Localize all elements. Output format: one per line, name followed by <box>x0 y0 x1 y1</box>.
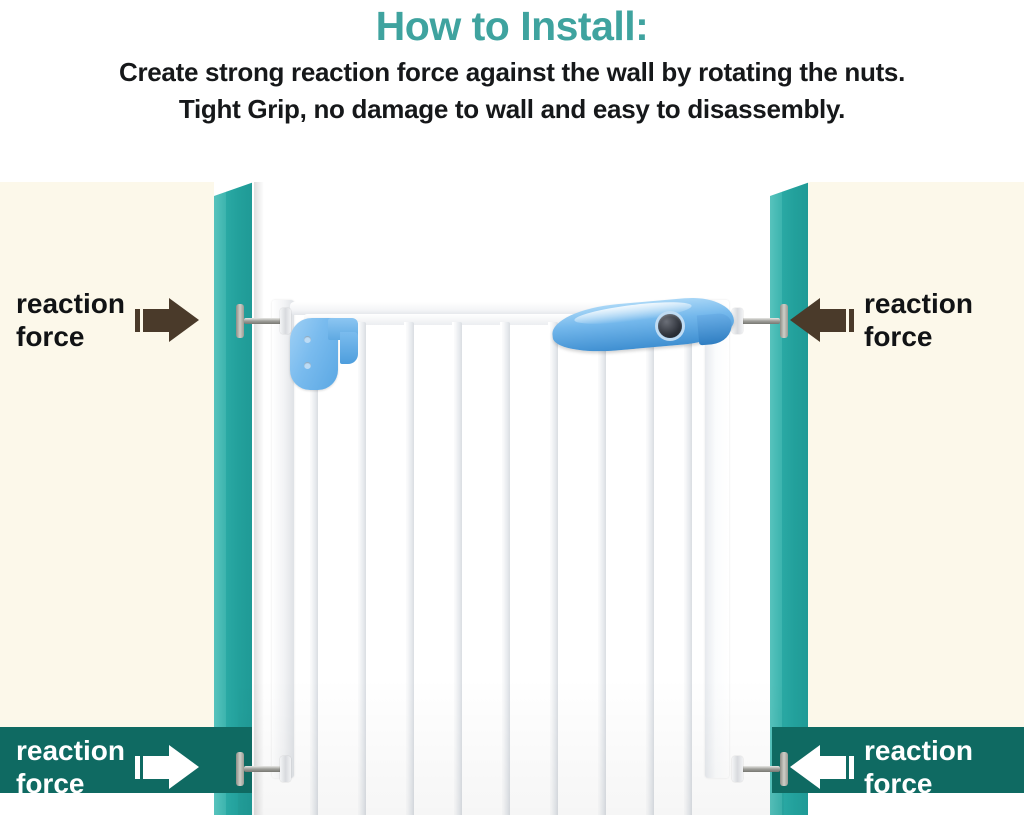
page-title: How to Install: <box>0 0 1024 49</box>
wall-post-left-cap <box>214 182 254 196</box>
reaction-force-bottom-left: reaction force <box>16 734 199 800</box>
wall-post-right-cap <box>770 182 810 196</box>
label-line-1: reaction <box>16 287 125 320</box>
wall-post-left-face <box>226 182 252 815</box>
mounting-bolt-bottom-left[interactable] <box>236 752 300 786</box>
bolt-rod <box>244 766 284 772</box>
bolt-nut[interactable] <box>732 756 743 782</box>
reaction-force-bottom-right: reaction force <box>790 734 973 800</box>
reaction-force-top-right-text: reaction force <box>864 287 973 353</box>
label-line-2: force <box>864 767 973 800</box>
wall-post-right-edge <box>770 182 782 815</box>
bolt-rod <box>244 318 284 324</box>
wall-post-left <box>214 182 254 815</box>
bolt-wall-pad <box>780 304 788 338</box>
gate-bar <box>548 322 558 815</box>
gate-bar <box>452 322 462 815</box>
wall-post-left-edge <box>214 182 226 815</box>
wall-post-right-face <box>782 182 808 815</box>
gate-bar <box>682 322 692 815</box>
blue-hinge[interactable] <box>290 318 358 390</box>
label-line-2: force <box>16 320 125 353</box>
hinge-rivet <box>304 362 311 369</box>
bolt-wall-pad <box>780 752 788 786</box>
top-right-arrow-icon <box>790 298 854 342</box>
header-block: How to Install: Create strong reaction f… <box>0 0 1024 182</box>
install-instruction-graphic: How to Install: Create strong reaction f… <box>0 0 1024 815</box>
gate-bar <box>308 322 318 815</box>
gate-frame-right-post <box>705 300 729 778</box>
subtitle-line-2: Tight Grip, no damage to wall and easy t… <box>0 89 1024 126</box>
reaction-force-top-right: reaction force <box>790 287 973 353</box>
bolt-wall-pad <box>236 304 244 338</box>
bolt-nut[interactable] <box>280 756 291 782</box>
safety-gate <box>268 300 748 780</box>
reaction-force-top-left: reaction force <box>16 287 199 353</box>
label-line-2: force <box>864 320 973 353</box>
label-line-1: reaction <box>864 287 973 320</box>
handle-release-button[interactable] <box>658 314 682 338</box>
bottom-right-arrow-icon <box>790 745 854 789</box>
gate-bar <box>596 322 606 815</box>
gate-bar <box>404 322 414 815</box>
label-line-2: force <box>16 767 125 800</box>
mounting-bolt-bottom-right[interactable] <box>724 752 788 786</box>
diagram-stage: reaction force reaction force <box>0 182 1024 815</box>
handle-tail <box>697 313 733 346</box>
reaction-force-bottom-left-text: reaction force <box>16 734 125 800</box>
gate-bar <box>644 322 654 815</box>
reaction-force-bottom-right-text: reaction force <box>864 734 973 800</box>
gate-door-panel <box>304 314 696 815</box>
gate-bar <box>500 322 510 815</box>
label-line-1: reaction <box>864 734 973 767</box>
bolt-wall-pad <box>236 752 244 786</box>
reaction-force-top-left-text: reaction force <box>16 287 125 353</box>
gate-bar <box>356 322 366 815</box>
bottom-left-arrow-icon <box>135 745 199 789</box>
bolt-rod <box>740 318 780 324</box>
hinge-arm-lower <box>340 332 358 364</box>
label-line-1: reaction <box>16 734 125 767</box>
subtitle-line-1: Create strong reaction force against the… <box>0 49 1024 89</box>
wall-post-right <box>770 182 810 815</box>
blue-handle[interactable] <box>552 292 734 354</box>
wall-post-left-shadow <box>254 182 264 815</box>
bolt-rod <box>740 766 780 772</box>
top-left-arrow-icon <box>135 298 199 342</box>
hinge-rivet <box>304 336 311 343</box>
